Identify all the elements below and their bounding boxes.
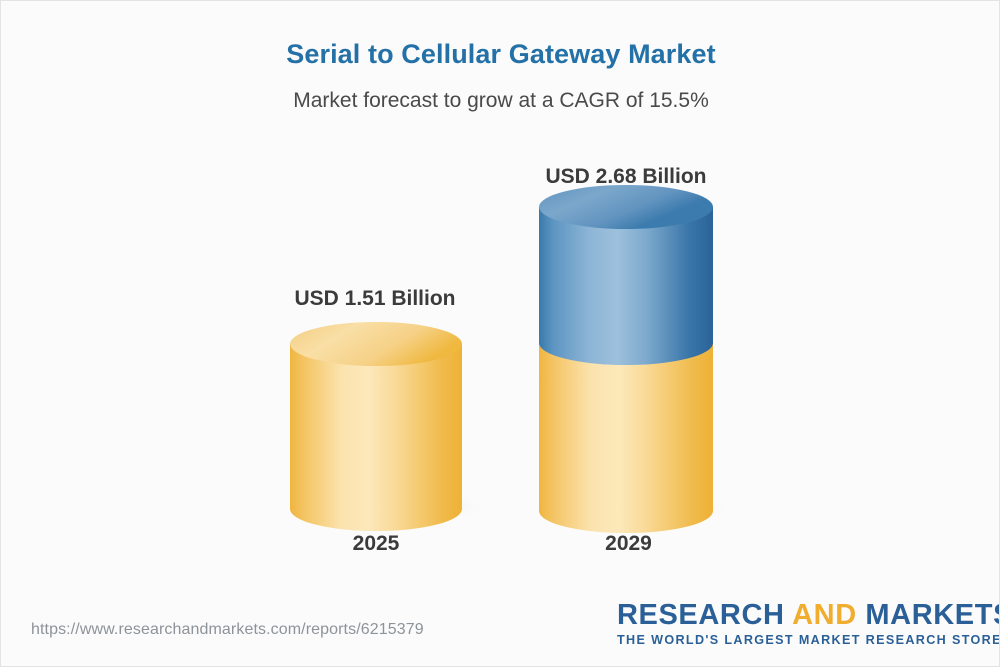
cylinder-2025: [281, 321, 481, 531]
category-label-2025: 2025: [276, 532, 476, 556]
brand-markets-text: MARKETS: [857, 599, 1000, 631]
source-url[interactable]: https://www.researchandmarkets.com/repor…: [31, 621, 424, 639]
chart-canvas: Serial to Cellular Gateway Market Market…: [0, 0, 1000, 667]
category-label-2029: 2029: [526, 532, 731, 556]
brand-wordmark: RESEARCH AND MARKETS: [617, 601, 977, 631]
brand-tagline: THE WORLD'S LARGEST MARKET RESEARCH STOR…: [617, 633, 977, 647]
brand-logo: RESEARCH AND MARKETS THE WORLD'S LARGEST…: [617, 601, 977, 647]
cylinder-segment-lower-2029: [539, 343, 713, 533]
plot-area: USD 1.51 Billion: [1, 1, 1000, 667]
cylinder-2029: [529, 183, 734, 533]
cylinder-top-2025: [290, 322, 462, 366]
brand-research-text: RESEARCH: [617, 599, 792, 631]
cylinder-segment-upper-2029: [539, 207, 713, 365]
value-label-2025: USD 1.51 Billion: [255, 287, 495, 311]
brand-and-text: AND: [792, 599, 857, 631]
cylinder-body-2025: [290, 344, 462, 531]
cylinder-top-2029: [539, 185, 713, 229]
